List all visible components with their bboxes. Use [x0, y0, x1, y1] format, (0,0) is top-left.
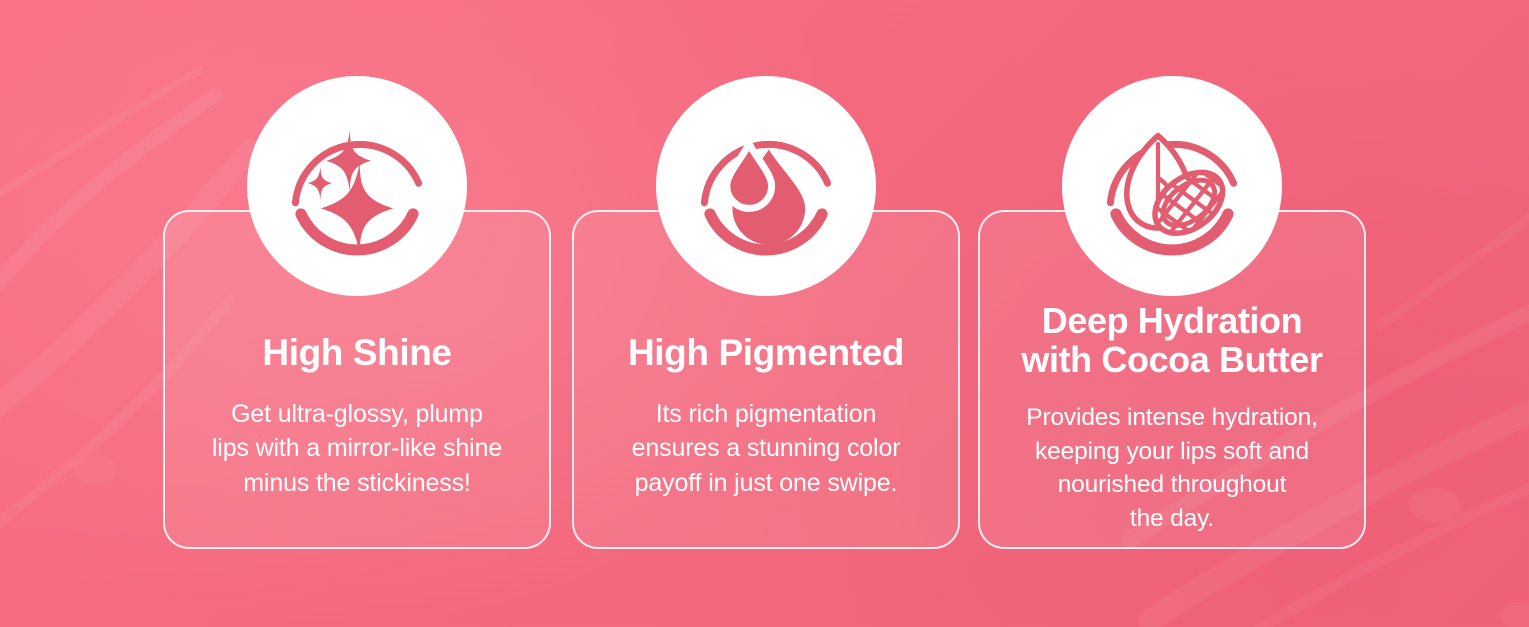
icon-badge-high-pigmented — [656, 76, 876, 296]
card-title: Deep Hydration with Cocoa Butter — [1021, 302, 1322, 380]
card-title: High Shine — [262, 333, 451, 373]
cocoa-bean-icon — [1088, 102, 1256, 270]
sparkle-shine-icon — [273, 102, 441, 270]
feature-card-row: High Shine Get ultra-glossy, plump lips … — [0, 0, 1529, 627]
card-description: Provides intense hydration, keeping your… — [1026, 401, 1317, 536]
feature-card-high-shine[interactable]: High Shine Get ultra-glossy, plump lips … — [163, 210, 551, 549]
card-title: High Pigmented — [628, 333, 904, 373]
card-description: Its rich pigmentation ensures a stunning… — [632, 397, 901, 501]
feature-card-deep-hydration[interactable]: Deep Hydration with Cocoa Butter Provide… — [978, 210, 1366, 549]
water-droplet-icon — [682, 102, 850, 270]
icon-badge-high-shine — [247, 76, 467, 296]
feature-card-high-pigmented[interactable]: High Pigmented Its rich pigmentation ens… — [572, 210, 960, 549]
card-description: Get ultra-glossy, plump lips with a mirr… — [212, 397, 502, 501]
icon-badge-deep-hydration — [1062, 76, 1282, 296]
